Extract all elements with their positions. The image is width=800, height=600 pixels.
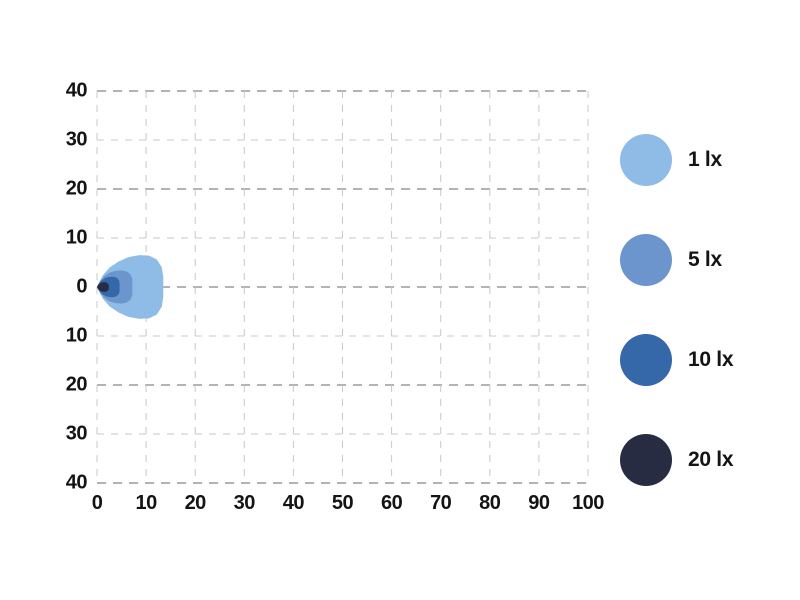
legend-item-label: 5 lx <box>688 248 722 272</box>
y-axis-tick-label: 20 <box>66 374 87 397</box>
legend-swatch-circle-icon <box>620 434 672 486</box>
x-axis-tick-label: 40 <box>283 492 304 515</box>
x-axis-tick-label: 70 <box>430 492 451 515</box>
legend-item[interactable]: 20 lx <box>620 410 780 510</box>
x-axis-tick-label: 100 <box>572 492 604 515</box>
y-axis-tick-label: 20 <box>66 178 87 201</box>
plot-area <box>97 91 588 483</box>
legend-swatch-circle-icon <box>620 334 672 386</box>
legend-item[interactable]: 10 lx <box>620 310 780 410</box>
y-axis-tick-label: 30 <box>66 423 87 446</box>
y-axis-tick-label: 10 <box>66 325 87 348</box>
beam-contours <box>97 91 588 483</box>
y-axis-tick-label: 40 <box>66 472 87 495</box>
y-axis-tick-label: 30 <box>66 129 87 152</box>
y-axis-tick-label: 10 <box>66 227 87 250</box>
x-axis-tick-label: 80 <box>479 492 500 515</box>
y-axis-tick-labels: 40302010010203040 <box>45 91 87 483</box>
y-axis-tick-label: 0 <box>76 276 87 299</box>
x-axis-tick-label: 90 <box>528 492 549 515</box>
x-axis-tick-label: 20 <box>185 492 206 515</box>
y-axis-tick-label: 40 <box>66 80 87 103</box>
x-axis-tick-label: 50 <box>332 492 353 515</box>
x-axis-tick-label: 10 <box>135 492 156 515</box>
legend-item[interactable]: 5 lx <box>620 210 780 310</box>
legend-item-label: 20 lx <box>688 448 733 472</box>
legend-swatch-circle-icon <box>620 134 672 186</box>
light-distribution-chart: 40302010010203040 0102030405060708090100… <box>0 0 800 600</box>
x-axis-tick-labels: 0102030405060708090100 <box>97 492 588 522</box>
x-axis-tick-label: 0 <box>92 492 103 515</box>
x-axis-tick-label: 30 <box>234 492 255 515</box>
legend-item-label: 10 lx <box>688 348 733 372</box>
x-axis-tick-label: 60 <box>381 492 402 515</box>
legend-item[interactable]: 1 lx <box>620 110 780 210</box>
legend: 1 lx5 lx10 lx20 lx <box>620 110 780 510</box>
legend-swatch-circle-icon <box>620 234 672 286</box>
legend-item-label: 1 lx <box>688 148 722 172</box>
